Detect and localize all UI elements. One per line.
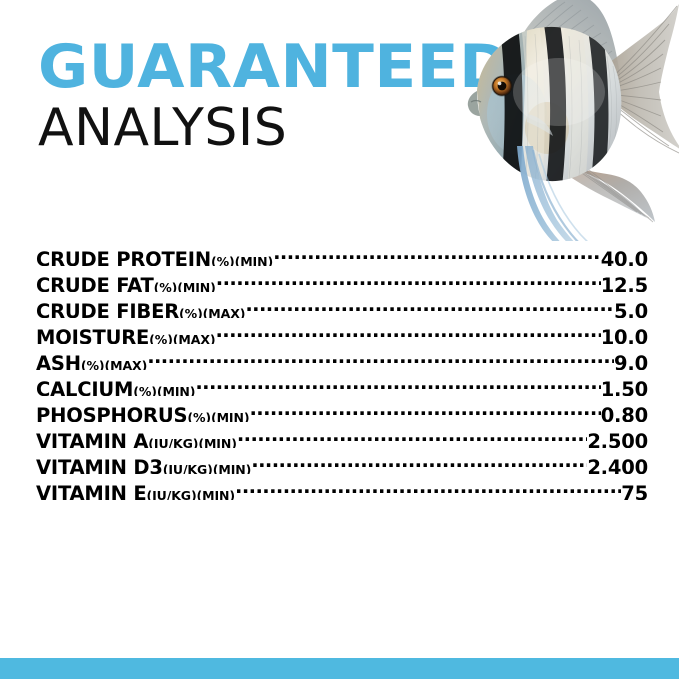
nutrient-value: 12.5 — [601, 273, 648, 292]
heading-block: GUARANTEED ANALYSIS — [38, 36, 468, 156]
analysis-row: CALCIUM (%)(MIN) .......................… — [36, 370, 648, 396]
nutrient-unit: (%)(MAX) — [179, 301, 245, 318]
nutrient-unit: (IU/KG)(MIN) — [163, 457, 252, 474]
analysis-row: VITAMIN D3 (IU/KG)(MIN) ................… — [36, 448, 648, 474]
leader-dots: ........................................… — [249, 396, 600, 422]
nutrient-value: 0.80 — [601, 403, 648, 422]
page-title-primary: GUARANTEED — [38, 36, 477, 98]
nutrient-value: 40.0 — [601, 247, 648, 266]
nutrient-name: CRUDE FAT — [36, 273, 154, 292]
nutrient-value: 2,400 — [587, 455, 648, 474]
nutrient-value: 2,500 — [587, 429, 648, 448]
analysis-row: CRUDE FAT (%)(MIN) .....................… — [36, 266, 648, 292]
leader-dots: ........................................… — [215, 318, 600, 344]
guaranteed-analysis-list: CRUDE PROTEIN (%)(MIN) .................… — [36, 240, 648, 500]
nutrient-unit: (%)(MIN) — [211, 249, 273, 266]
nutrient-name: ASH — [36, 351, 81, 370]
nutrient-name: PHOSPHORUS — [36, 403, 187, 422]
leader-dots: ........................................… — [216, 266, 601, 292]
analysis-row: VITAMIN E (IU/KG)(MIN) .................… — [36, 474, 648, 500]
leader-dots: ........................................… — [237, 422, 587, 448]
analysis-row: CRUDE PROTEIN (%)(MIN) .................… — [36, 240, 648, 266]
nutrient-unit: (IU/KG)(MIN) — [147, 483, 236, 500]
page-title-secondary: ANALYSIS — [38, 100, 468, 156]
nutrient-unit: (%)(MAX) — [81, 353, 147, 370]
leader-dots: ........................................… — [273, 240, 601, 266]
analysis-row: VITAMIN A (IU/KG)(MIN) .................… — [36, 422, 648, 448]
nutrient-name: CALCIUM — [36, 377, 133, 396]
analysis-row: PHOSPHORUS (%)(MIN) ....................… — [36, 396, 648, 422]
nutrient-value: 75 — [621, 481, 648, 500]
nutrient-name: CRUDE PROTEIN — [36, 247, 211, 266]
nutrient-unit: (IU/KG)(MIN) — [148, 431, 237, 448]
analysis-row: ASH (%)(MAX) ...........................… — [36, 344, 648, 370]
guaranteed-analysis-panel: GUARANTEED ANALYSIS — [0, 0, 679, 679]
leader-dots: ........................................… — [245, 292, 614, 318]
analysis-row: CRUDE FIBER (%)(MAX) ...................… — [36, 292, 648, 318]
bottom-accent-bar — [0, 658, 679, 679]
nutrient-value: 9.0 — [614, 351, 648, 370]
nutrient-unit: (%)(MIN) — [154, 275, 216, 292]
nutrient-value: 1.50 — [601, 377, 648, 396]
nutrient-name: MOISTURE — [36, 325, 149, 344]
nutrient-unit: (%)(MIN) — [187, 405, 249, 422]
nutrient-name: VITAMIN A — [36, 429, 148, 448]
nutrient-value: 5.0 — [614, 299, 648, 318]
nutrient-name: VITAMIN D3 — [36, 455, 163, 474]
leader-dots: ........................................… — [235, 474, 621, 500]
nutrient-name: CRUDE FIBER — [36, 299, 179, 318]
nutrient-name: VITAMIN E — [36, 481, 147, 500]
analysis-row: MOISTURE (%)(MAX) ......................… — [36, 318, 648, 344]
leader-dots: ........................................… — [195, 370, 600, 396]
nutrient-unit: (%)(MAX) — [149, 327, 215, 344]
nutrient-value: 10.0 — [601, 325, 648, 344]
leader-dots: ........................................… — [251, 448, 587, 474]
nutrient-unit: (%)(MIN) — [133, 379, 195, 396]
leader-dots: ........................................… — [147, 344, 614, 370]
